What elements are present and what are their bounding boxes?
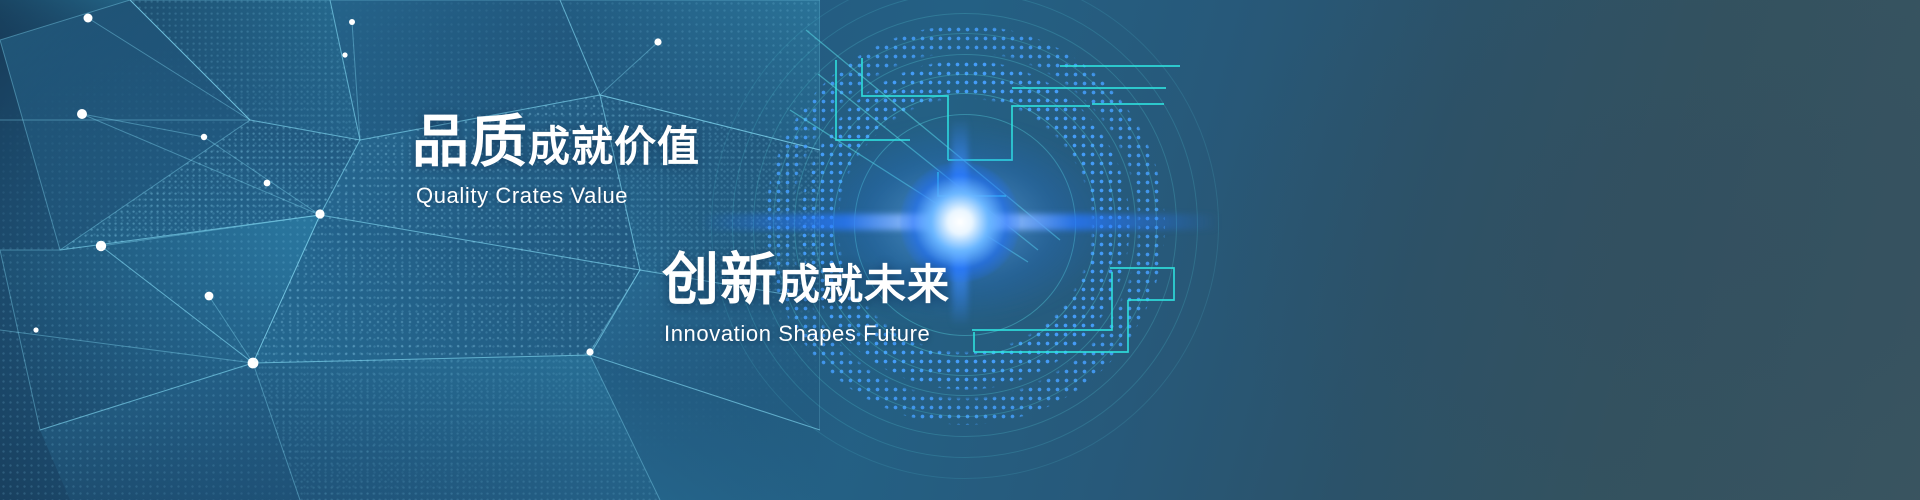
- headline-innovation-chinese: 创新成就未来: [662, 252, 950, 309]
- headline-innovation-tail: 成就未来: [778, 261, 950, 308]
- headline-quality-chinese: 品质成就价值: [412, 114, 700, 171]
- hero-banner: 品质成就价值 Quality Crates Value 创新成就未来 Innov…: [0, 0, 1920, 500]
- headline-innovation-lead: 创新: [662, 248, 778, 312]
- headline-innovation-english: Innovation Shapes Future: [664, 321, 950, 347]
- headline-quality-lead: 品质: [412, 110, 528, 174]
- headline-quality-english: Quality Crates Value: [416, 183, 700, 209]
- cyan-circuit-traces: [0, 0, 1920, 500]
- headline-block-innovation: 创新成就未来 Innovation Shapes Future: [662, 252, 950, 347]
- headline-quality-tail: 成就价值: [528, 123, 700, 170]
- headline-block-quality: 品质成就价值 Quality Crates Value: [412, 114, 700, 209]
